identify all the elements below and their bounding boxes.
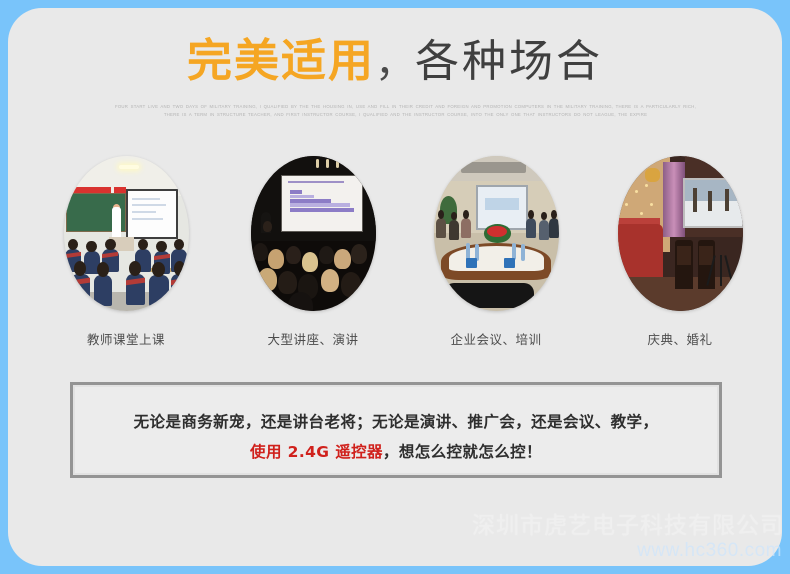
photo-gallery: 教师课堂上课 [8,156,782,356]
content-panel: 完美适用，各种场合 FOUR START LIVE AND TWO DAYS O… [8,8,782,566]
gallery-caption: 庆典、婚礼 [600,329,760,348]
subtitle-paragraph: FOUR START LIVE AND TWO DAYS OF MILITARY… [113,103,698,119]
gallery-item-lecture[interactable]: 大型讲座、演讲 [233,156,393,348]
message-line-2-red: 使用 2.4G 遥控器 [250,443,383,461]
gallery-caption: 教师课堂上课 [46,329,206,348]
conference-room-photo [434,156,559,311]
page-root: 完美适用，各种场合 FOUR START LIVE AND TWO DAYS O… [0,0,790,574]
gallery-caption: 大型讲座、演讲 [233,329,393,348]
classroom-photo [64,156,189,311]
gallery-item-conference[interactable]: 企业会议、培训 [416,156,576,348]
message-line-2-rest: ，想怎么控就怎么控！ [383,443,542,461]
gallery-caption: 企业会议、培训 [416,329,576,348]
gallery-item-banquet[interactable]: 庆典、婚礼 [600,156,760,348]
page-title: 完美适用，各种场合 [8,38,782,84]
page-title-highlight: 完美适用 [187,34,375,87]
highlight-message-content: 无论是商务新宠，还是讲台老将；无论是演讲、推广会，还是会议、教学， 使用 2.4… [73,407,719,467]
lecture-hall-photo [251,156,376,311]
page-title-comma: ， [375,41,415,85]
message-line-2: 使用 2.4G 遥控器，想怎么控就怎么控！ [73,437,719,467]
page-title-rest: 各种场合 [415,36,603,87]
gallery-item-classroom[interactable]: 教师课堂上课 [46,156,206,348]
message-line-1: 无论是商务新宠，还是讲台老将；无论是演讲、推广会，还是会议、教学， [73,407,719,437]
highlight-message-box: 无论是商务新宠，还是讲台老将；无论是演讲、推广会，还是会议、教学， 使用 2.4… [70,382,722,478]
banquet-photo [618,156,743,311]
